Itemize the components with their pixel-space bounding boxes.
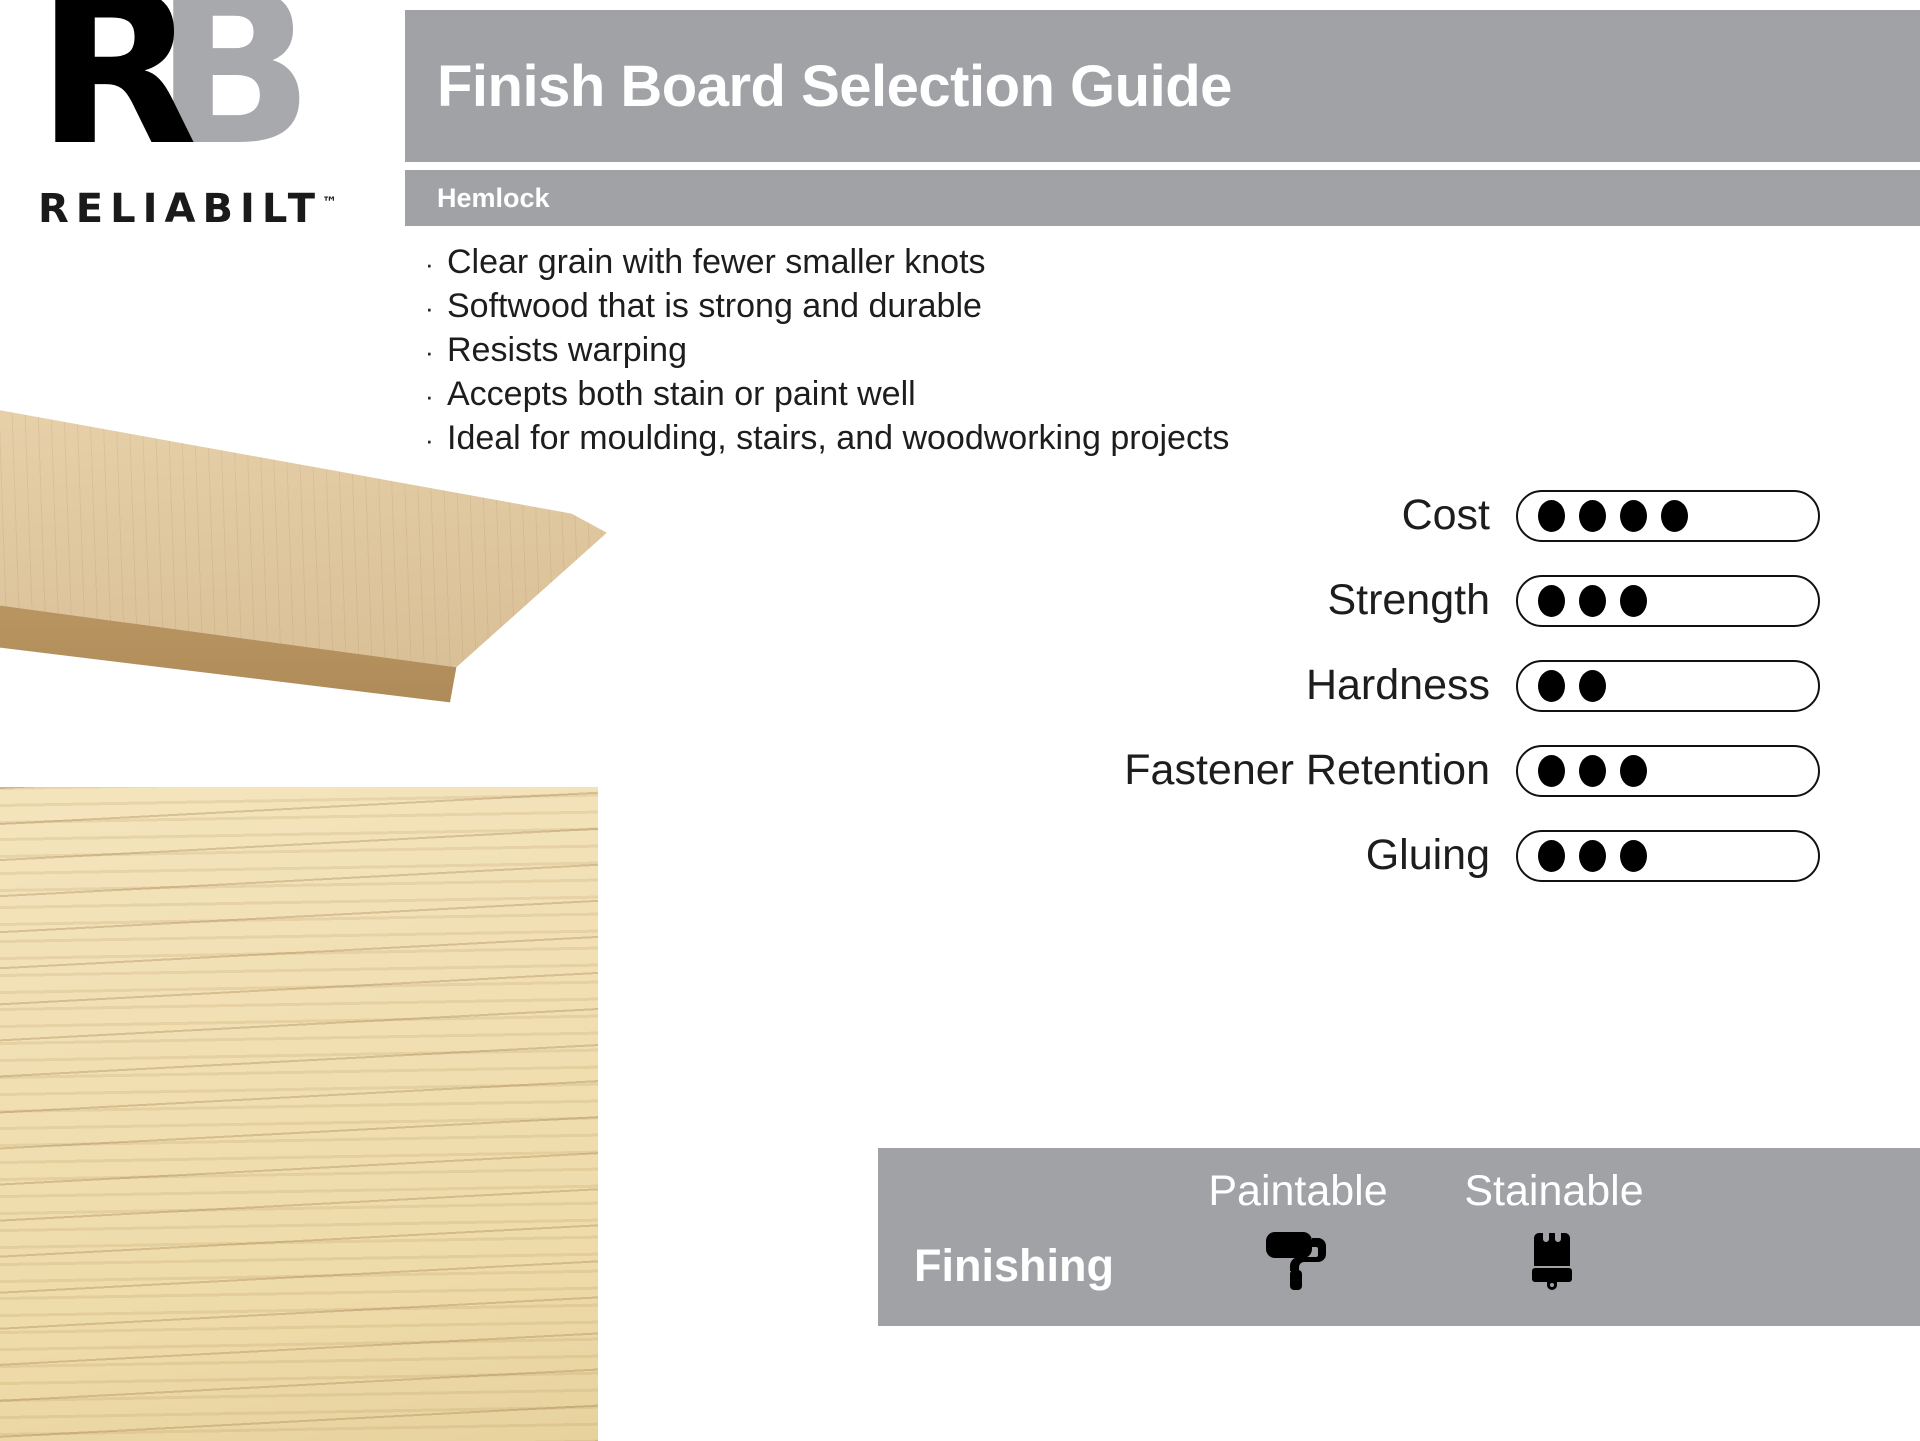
- reliabilt-logo: B R RELIABILT™: [36, 8, 366, 228]
- rating-dot: [1538, 840, 1565, 872]
- rating-row-gluing: Gluing: [760, 813, 1820, 898]
- rating-dot: [1620, 500, 1647, 532]
- list-item: · Clear grain with fewer smaller knots: [425, 243, 1325, 287]
- list-item-label: Clear grain with fewer smaller knots: [447, 243, 986, 282]
- rating-dot: [1538, 670, 1565, 702]
- rating-meter-fastener-retention: [1516, 745, 1820, 797]
- list-item: · Softwood that is strong and durable: [425, 287, 1325, 331]
- list-item: · Resists warping: [425, 331, 1325, 375]
- rating-meter-gluing: [1516, 830, 1820, 882]
- rating-dot: [1579, 670, 1606, 702]
- rating-label: Fastener Retention: [1124, 746, 1516, 795]
- paint-brush-icon: [1424, 1223, 1684, 1295]
- rating-meter-hardness: [1516, 660, 1820, 712]
- list-item-label: Resists warping: [447, 331, 687, 370]
- rating-dot: [1579, 840, 1606, 872]
- rating-row-strength: Strength: [760, 558, 1820, 643]
- rating-dot: [1538, 585, 1565, 617]
- subtitle-bar: Hemlock: [405, 170, 1920, 226]
- finishing-option-stainable: Stainable: [1424, 1168, 1684, 1295]
- rating-label: Cost: [1402, 491, 1516, 540]
- rating-label: Hardness: [1306, 661, 1516, 710]
- rating-label: Strength: [1327, 576, 1516, 625]
- rating-dot: [1538, 755, 1565, 787]
- rating-meter-strength: [1516, 575, 1820, 627]
- rating-dot: [1579, 585, 1606, 617]
- bullet-marker-icon: ·: [425, 339, 447, 365]
- list-item-label: Softwood that is strong and durable: [447, 287, 982, 326]
- rating-dot: [1620, 585, 1647, 617]
- rating-row-cost: Cost: [760, 473, 1820, 558]
- paint-roller-icon: [1168, 1223, 1428, 1295]
- logo-letter-r-icon: R: [36, 0, 190, 154]
- rating-dot: [1661, 500, 1688, 532]
- hemlock-board-photo: [0, 392, 610, 712]
- rating-row-hardness: Hardness: [760, 643, 1820, 728]
- title-bar: Finish Board Selection Guide: [405, 10, 1920, 162]
- finishing-option-label: Stainable: [1424, 1168, 1684, 1215]
- trademark-symbol: ™: [322, 194, 337, 212]
- species-name: Hemlock: [405, 183, 550, 214]
- logo-wordmark-text: RELIABILT: [38, 186, 322, 232]
- finishing-option-label: Paintable: [1168, 1168, 1428, 1215]
- page-title: Finish Board Selection Guide: [405, 53, 1232, 120]
- ratings-panel: Cost Strength Hardness Fas: [760, 473, 1820, 898]
- hemlock-grain-closeup: [0, 787, 598, 1441]
- rating-dot: [1620, 755, 1647, 787]
- bullet-marker-icon: ·: [425, 251, 447, 277]
- infographic-page: B R RELIABILT™ Finish Board Selection Gu…: [0, 0, 1920, 1441]
- finishing-option-paintable: Paintable: [1168, 1168, 1428, 1295]
- logo-mark: B R: [36, 8, 336, 176]
- bullet-marker-icon: ·: [425, 295, 447, 321]
- finishing-title: Finishing: [914, 1240, 1114, 1292]
- rating-dot: [1620, 840, 1647, 872]
- rating-dot: [1579, 755, 1606, 787]
- rating-dot: [1538, 500, 1565, 532]
- rating-meter-cost: [1516, 490, 1820, 542]
- logo-wordmark: RELIABILT™: [38, 186, 337, 232]
- rating-row-fastener-retention: Fastener Retention: [760, 728, 1820, 813]
- rating-label: Gluing: [1366, 831, 1516, 880]
- rating-dot: [1579, 500, 1606, 532]
- finishing-panel: Finishing Paintable Stainable: [878, 1148, 1920, 1326]
